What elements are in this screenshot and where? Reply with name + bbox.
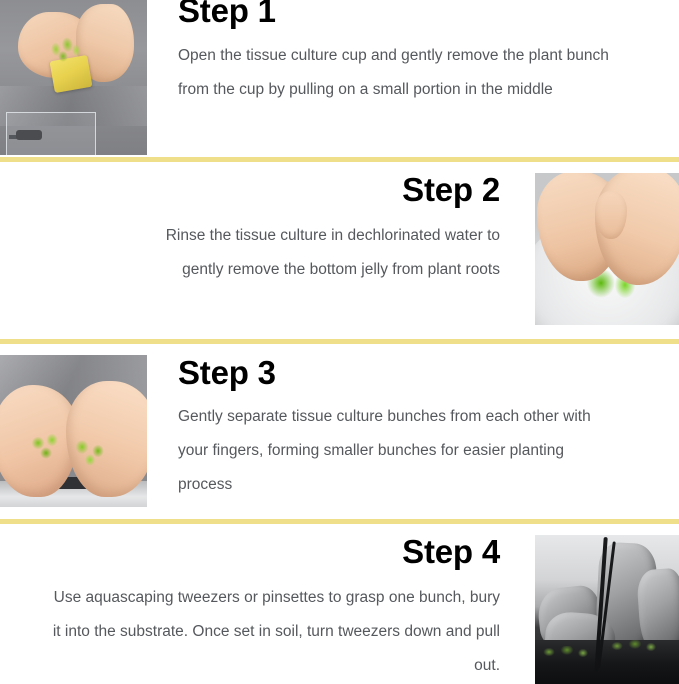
step-1-title: Step 1 bbox=[178, 0, 618, 27]
step-2-photo-rinsing-tissue-culture-in-water bbox=[535, 173, 679, 325]
step-4-text-block: Step 4 Use aquascaping tweezers or pinse… bbox=[50, 535, 500, 683]
divider-1 bbox=[0, 157, 679, 162]
divider-3 bbox=[0, 519, 679, 524]
step-1-body: Open the tissue culture cup and gently r… bbox=[178, 39, 618, 107]
planted-grass-left bbox=[539, 646, 595, 660]
step-2-body: Rinse the tissue culture in dechlorinate… bbox=[160, 219, 500, 287]
photo-aquascape-scene bbox=[535, 535, 679, 684]
green-plant-bunch-right bbox=[70, 435, 112, 467]
step-4-photo-planted-aquascape-with-tweezers bbox=[535, 535, 679, 684]
step-1-text-block: Step 1 Open the tissue culture cup and g… bbox=[178, 0, 618, 107]
planted-grass-right bbox=[607, 640, 667, 654]
step-3-body: Gently separate tissue culture bunches f… bbox=[178, 400, 608, 502]
step-row-4: Step 4 Use aquascaping tweezers or pinse… bbox=[0, 527, 679, 684]
step-1-photo-opening-tissue-culture-cup bbox=[0, 0, 147, 155]
photo-rinse-scene bbox=[535, 173, 679, 325]
step-3-title: Step 3 bbox=[178, 356, 608, 389]
tank-clip bbox=[16, 130, 42, 140]
step-2-text-block: Step 2 Rinse the tissue culture in dechl… bbox=[160, 173, 500, 287]
green-plant-bunch bbox=[46, 34, 83, 64]
step-4-title: Step 4 bbox=[50, 535, 500, 568]
step-row-3: Step 3 Gently separate tissue culture bu… bbox=[0, 347, 679, 515]
step-2-title: Step 2 bbox=[160, 173, 500, 206]
photo-cup-scene bbox=[0, 0, 147, 155]
step-3-text-block: Step 3 Gently separate tissue culture bu… bbox=[178, 356, 608, 502]
step-3-photo-separating-bunches-by-hand bbox=[0, 355, 147, 507]
step-4-body: Use aquascaping tweezers or pinsettes to… bbox=[50, 581, 500, 683]
instruction-steps-infographic: Step 1 Open the tissue culture cup and g… bbox=[0, 0, 679, 684]
step-row-1: Step 1 Open the tissue culture cup and g… bbox=[0, 0, 679, 155]
photo-separate-scene bbox=[0, 355, 147, 507]
divider-2 bbox=[0, 339, 679, 344]
step-row-2: Step 2 Rinse the tissue culture in dechl… bbox=[0, 165, 679, 335]
green-plant-bunch-left bbox=[28, 431, 68, 461]
